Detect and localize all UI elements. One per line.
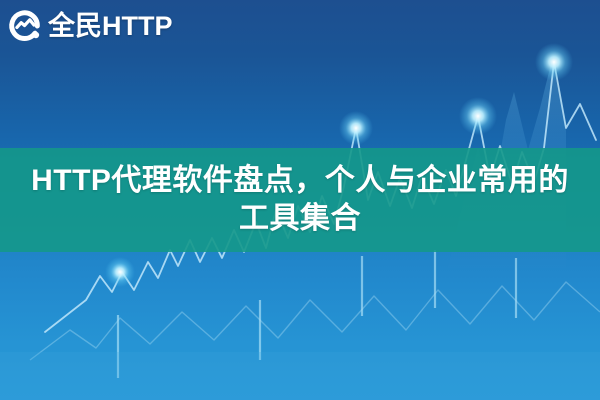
- title-band: HTTP代理软件盘点，个人与企业常用的工具集合: [0, 148, 600, 252]
- vertical-bars: [82, 250, 593, 392]
- highlight-bars: [118, 250, 516, 378]
- glow-point: [535, 43, 573, 81]
- glow-point: [339, 111, 373, 145]
- glow-point: [105, 257, 135, 287]
- banner-title: HTTP代理软件盘点，个人与企业常用的工具集合: [20, 162, 580, 239]
- secondary-trend-line: [30, 282, 600, 360]
- glow-point: [459, 97, 497, 135]
- bottom-light-wash: [0, 352, 600, 400]
- brand-logo: 全民HTTP: [6, 5, 173, 47]
- promo-banner: 全民HTTP HTTP代理软件盘点，个人与企业常用的工具集合: [0, 0, 600, 400]
- brand-name: 全民HTTP: [48, 13, 173, 40]
- circle-chart-logo-icon: [6, 7, 44, 45]
